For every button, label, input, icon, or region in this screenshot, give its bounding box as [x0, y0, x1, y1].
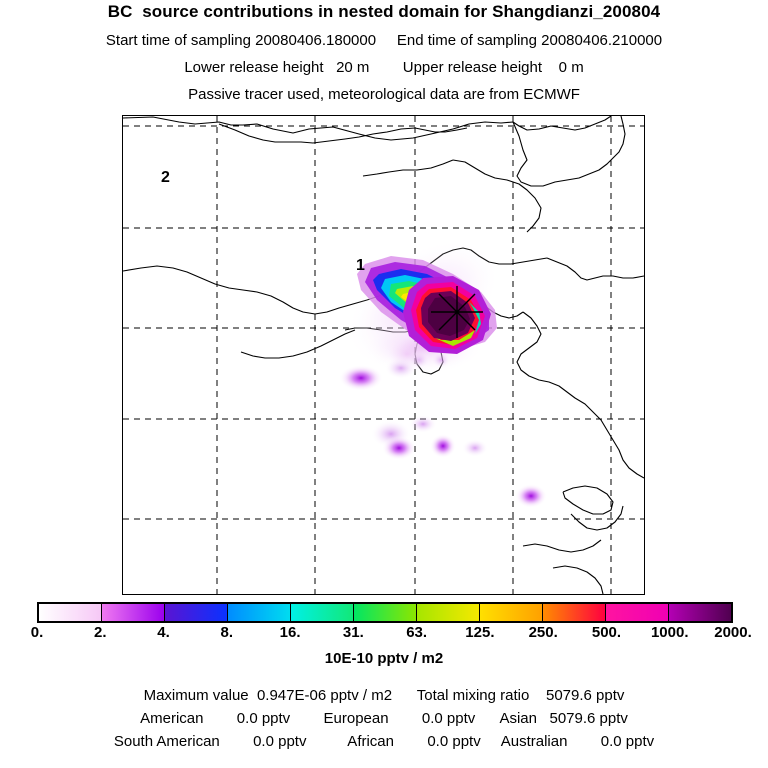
colorbar-segment-5 [354, 604, 417, 621]
colorbar-segment-1 [102, 604, 165, 621]
colorbar-tick-5: 31. [343, 624, 364, 641]
colorbar-tick-6: 63. [406, 624, 427, 641]
domain-label-1: 1 [356, 257, 365, 275]
stats-line-maximum: Maximum value 0.947E-06 pptv / m2 Total … [0, 687, 768, 704]
colorbar-segment-4 [291, 604, 354, 621]
colorbar-segment-9 [606, 604, 669, 621]
colorbar-segment-10 [669, 604, 731, 621]
colorbar-tick-1: 2. [94, 624, 107, 641]
colorbar-tick-10: 1000. [651, 624, 689, 641]
colorbar-segment-7 [480, 604, 543, 621]
colorbar-tick-8: 250. [529, 624, 558, 641]
colorbar-tick-11: 2000. [714, 624, 752, 641]
colorbar-segment-6 [417, 604, 480, 621]
colorbar-segment-0 [39, 604, 102, 621]
colorbar-tick-3: 8. [221, 624, 234, 641]
release-heights: Lower release height 20 m Upper release … [0, 59, 768, 76]
colorbar-segment-8 [543, 604, 606, 621]
colorbar [37, 602, 733, 623]
colorbar-unit-label: 10E-10 pptv / m2 [0, 650, 768, 667]
colorbar-segment-3 [228, 604, 291, 621]
colorbar-tick-4: 16. [280, 624, 301, 641]
colorbar-tick-0: 0. [31, 624, 44, 641]
colorbar-segment-2 [165, 604, 228, 621]
domain-label-2: 2 [161, 169, 170, 187]
page-title: BC source contributions in nested domain… [0, 2, 768, 22]
colorbar-tick-2: 4. [157, 624, 170, 641]
tracer-info: Passive tracer used, meteorological data… [0, 86, 768, 103]
sampling-times: Start time of sampling 20080406.180000 E… [0, 32, 768, 49]
map-plot-area: 2 1 [122, 115, 645, 595]
plot-page: BC source contributions in nested domain… [0, 0, 768, 768]
colorbar-tick-7: 125. [465, 624, 494, 641]
map-svg [123, 116, 644, 594]
stats-line-continents-1: American 0.0 pptv European 0.0 pptv Asia… [0, 710, 768, 727]
colorbar-tick-9: 500. [592, 624, 621, 641]
colorbar-tick-labels: 0.2.4.8.16.31.63.125.250.500.1000.2000. [0, 624, 768, 644]
stats-line-continents-2: South American 0.0 pptv African 0.0 pptv… [0, 733, 768, 750]
